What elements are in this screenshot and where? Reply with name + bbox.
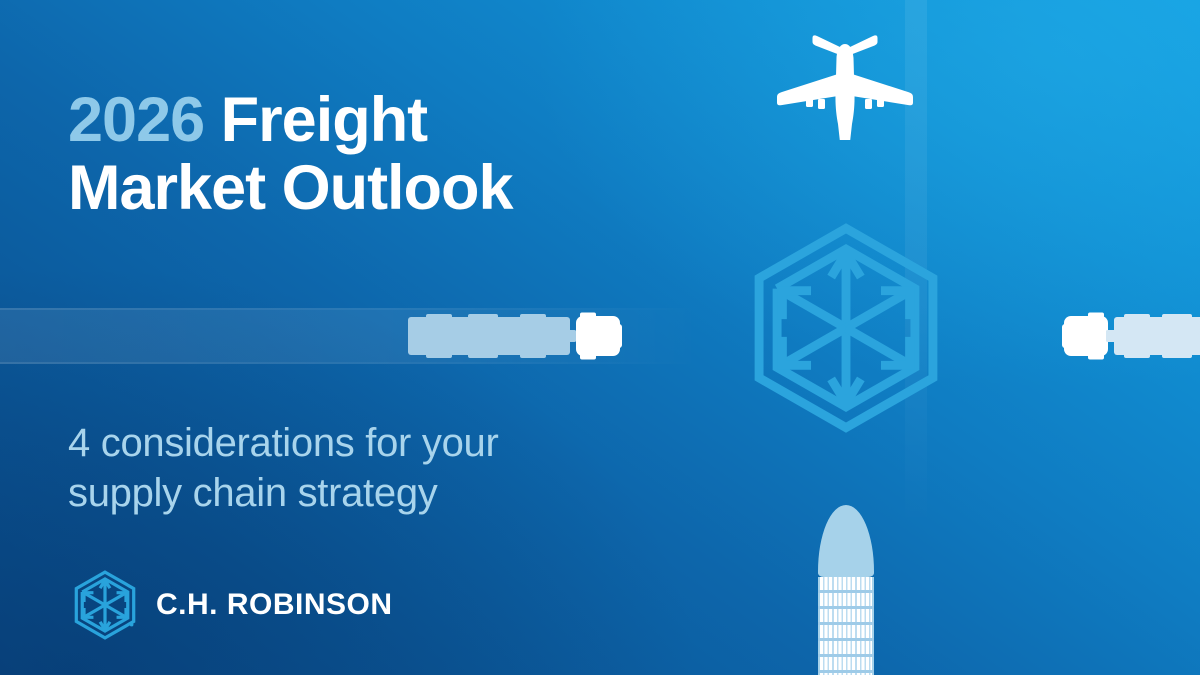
hexagon-cube-arrows-watermark-icon	[740, 222, 952, 434]
ship-bow	[818, 505, 874, 577]
truck-right-top-view-icon	[1062, 312, 1200, 360]
subtitle-line-2: supply chain strategy	[68, 471, 437, 515]
ship-container-deck	[818, 577, 874, 675]
road-edge-bottom	[0, 362, 700, 364]
brand-wordmark: C.H. ROBINSON	[156, 588, 393, 622]
title-year: 2026	[68, 85, 204, 155]
truck-left-top-view-icon	[408, 312, 626, 360]
freight-outlook-hero-banner: 2026 Freight Market Outlook 4 considerat…	[0, 0, 1200, 675]
hexagon-cube-arrows-icon	[70, 570, 140, 640]
container-ship-top-view-icon	[818, 505, 874, 675]
road-edge-top	[0, 308, 700, 310]
ship-deck-bands	[818, 577, 874, 675]
page-subtitle: 4 considerations for your supply chain s…	[68, 418, 668, 518]
title-rest: Freight	[221, 85, 428, 155]
airplane-graphic	[770, 30, 920, 140]
title-line-2: Market Outlook	[68, 153, 513, 223]
page-title: 2026 Freight Market Outlook	[68, 86, 708, 222]
brand-logo: C.H. ROBINSON	[70, 570, 393, 640]
airplane-top-view-icon	[770, 30, 920, 140]
subtitle-line-1: 4 considerations for your	[68, 421, 499, 465]
